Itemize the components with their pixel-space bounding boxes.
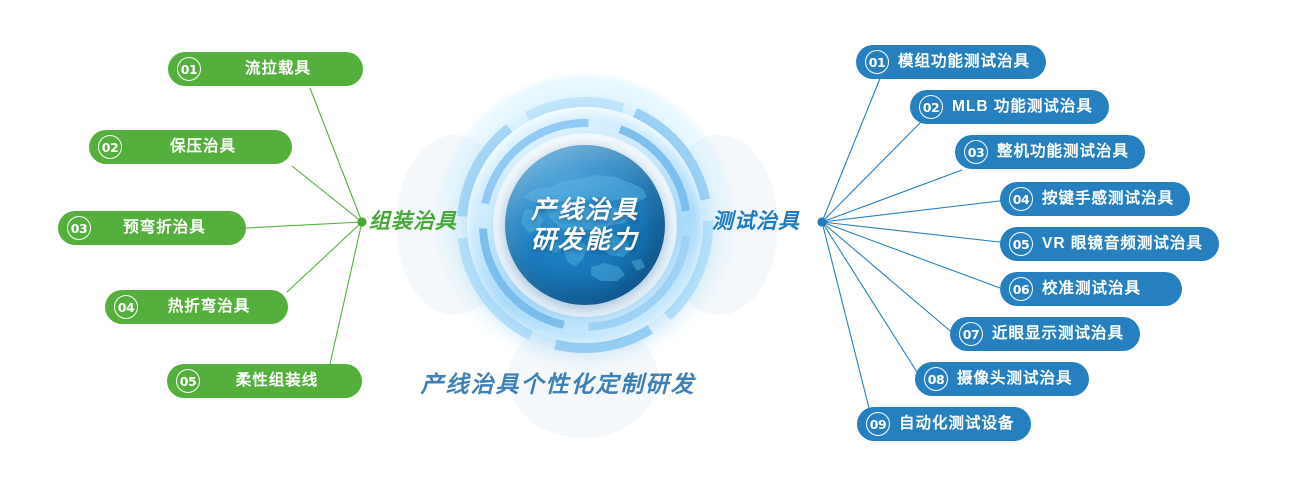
branch-label-test[interactable]: 测试治具 — [712, 211, 800, 232]
list-item[interactable]: 07 近眼显示测试治具 — [950, 317, 1140, 351]
item-number-badge: 03 — [964, 140, 988, 164]
item-number-badge: 08 — [924, 367, 948, 391]
right-hub-node — [817, 217, 826, 226]
infographic-canvas: 产线治具 研发能力 组装治具 测试治具 产线治具个性化定制研发 01 流拉载具 … — [0, 0, 1300, 486]
item-label: 自动化测试设备 — [890, 416, 1015, 432]
left-hub-node — [357, 217, 366, 226]
item-label: VR 眼镜音频测试治具 — [1033, 236, 1203, 252]
item-label: 整机功能测试治具 — [988, 144, 1129, 160]
list-item[interactable]: 05 VR 眼镜音频测试治具 — [1000, 227, 1219, 261]
globe-title-line1: 产线治具 — [531, 195, 639, 226]
item-label: 按键手感测试治具 — [1033, 191, 1174, 207]
list-item[interactable]: 03 整机功能测试治具 — [955, 135, 1145, 169]
item-number-badge: 07 — [959, 322, 983, 346]
list-item[interactable]: 01 模组功能测试治具 — [856, 45, 1046, 79]
list-item[interactable]: 04 热折弯治具 — [105, 290, 288, 324]
item-number-badge: 09 — [866, 412, 890, 436]
item-number-badge: 02 — [919, 95, 943, 119]
item-label: 校准测试治具 — [1033, 281, 1141, 297]
list-item[interactable]: 01 流拉载具 — [168, 52, 363, 86]
item-number-badge: 03 — [67, 216, 91, 240]
item-number-badge: 05 — [1009, 232, 1033, 256]
list-item[interactable]: 02 MLB 功能测试治具 — [910, 90, 1109, 124]
list-item[interactable]: 08 摄像头测试治具 — [915, 362, 1089, 396]
item-label: 流拉载具 — [201, 61, 349, 77]
center-globe: 产线治具 研发能力 — [425, 65, 745, 385]
item-number-badge: 05 — [176, 369, 200, 393]
list-item[interactable]: 06 校准测试治具 — [1000, 272, 1182, 306]
item-label: 摄像头测试治具 — [948, 371, 1073, 387]
list-item[interactable]: 04 按键手感测试治具 — [1000, 182, 1190, 216]
item-label: 预弯折治具 — [91, 220, 232, 236]
globe-title-line2: 研发能力 — [531, 225, 639, 256]
item-label: MLB 功能测试治具 — [943, 99, 1093, 115]
item-label: 近眼显示测试治具 — [983, 326, 1124, 342]
item-number-badge: 01 — [865, 50, 889, 74]
list-item[interactable]: 02 保压治具 — [89, 130, 292, 164]
globe-title: 产线治具 研发能力 — [505, 145, 665, 305]
item-label: 保压治具 — [122, 139, 278, 155]
item-number-badge: 02 — [98, 135, 122, 159]
item-number-badge: 01 — [177, 57, 201, 81]
item-label: 模组功能测试治具 — [889, 54, 1030, 70]
item-number-badge: 04 — [1009, 187, 1033, 211]
list-item[interactable]: 09 自动化测试设备 — [857, 407, 1031, 441]
branch-label-assembly[interactable]: 组装治具 — [369, 211, 457, 232]
item-number-badge: 04 — [114, 295, 138, 319]
item-number-badge: 06 — [1009, 277, 1033, 301]
list-item[interactable]: 05 柔性组装线 — [167, 364, 362, 398]
list-item[interactable]: 03 预弯折治具 — [58, 211, 246, 245]
item-label: 热折弯治具 — [138, 299, 274, 315]
item-label: 柔性组装线 — [200, 373, 348, 389]
